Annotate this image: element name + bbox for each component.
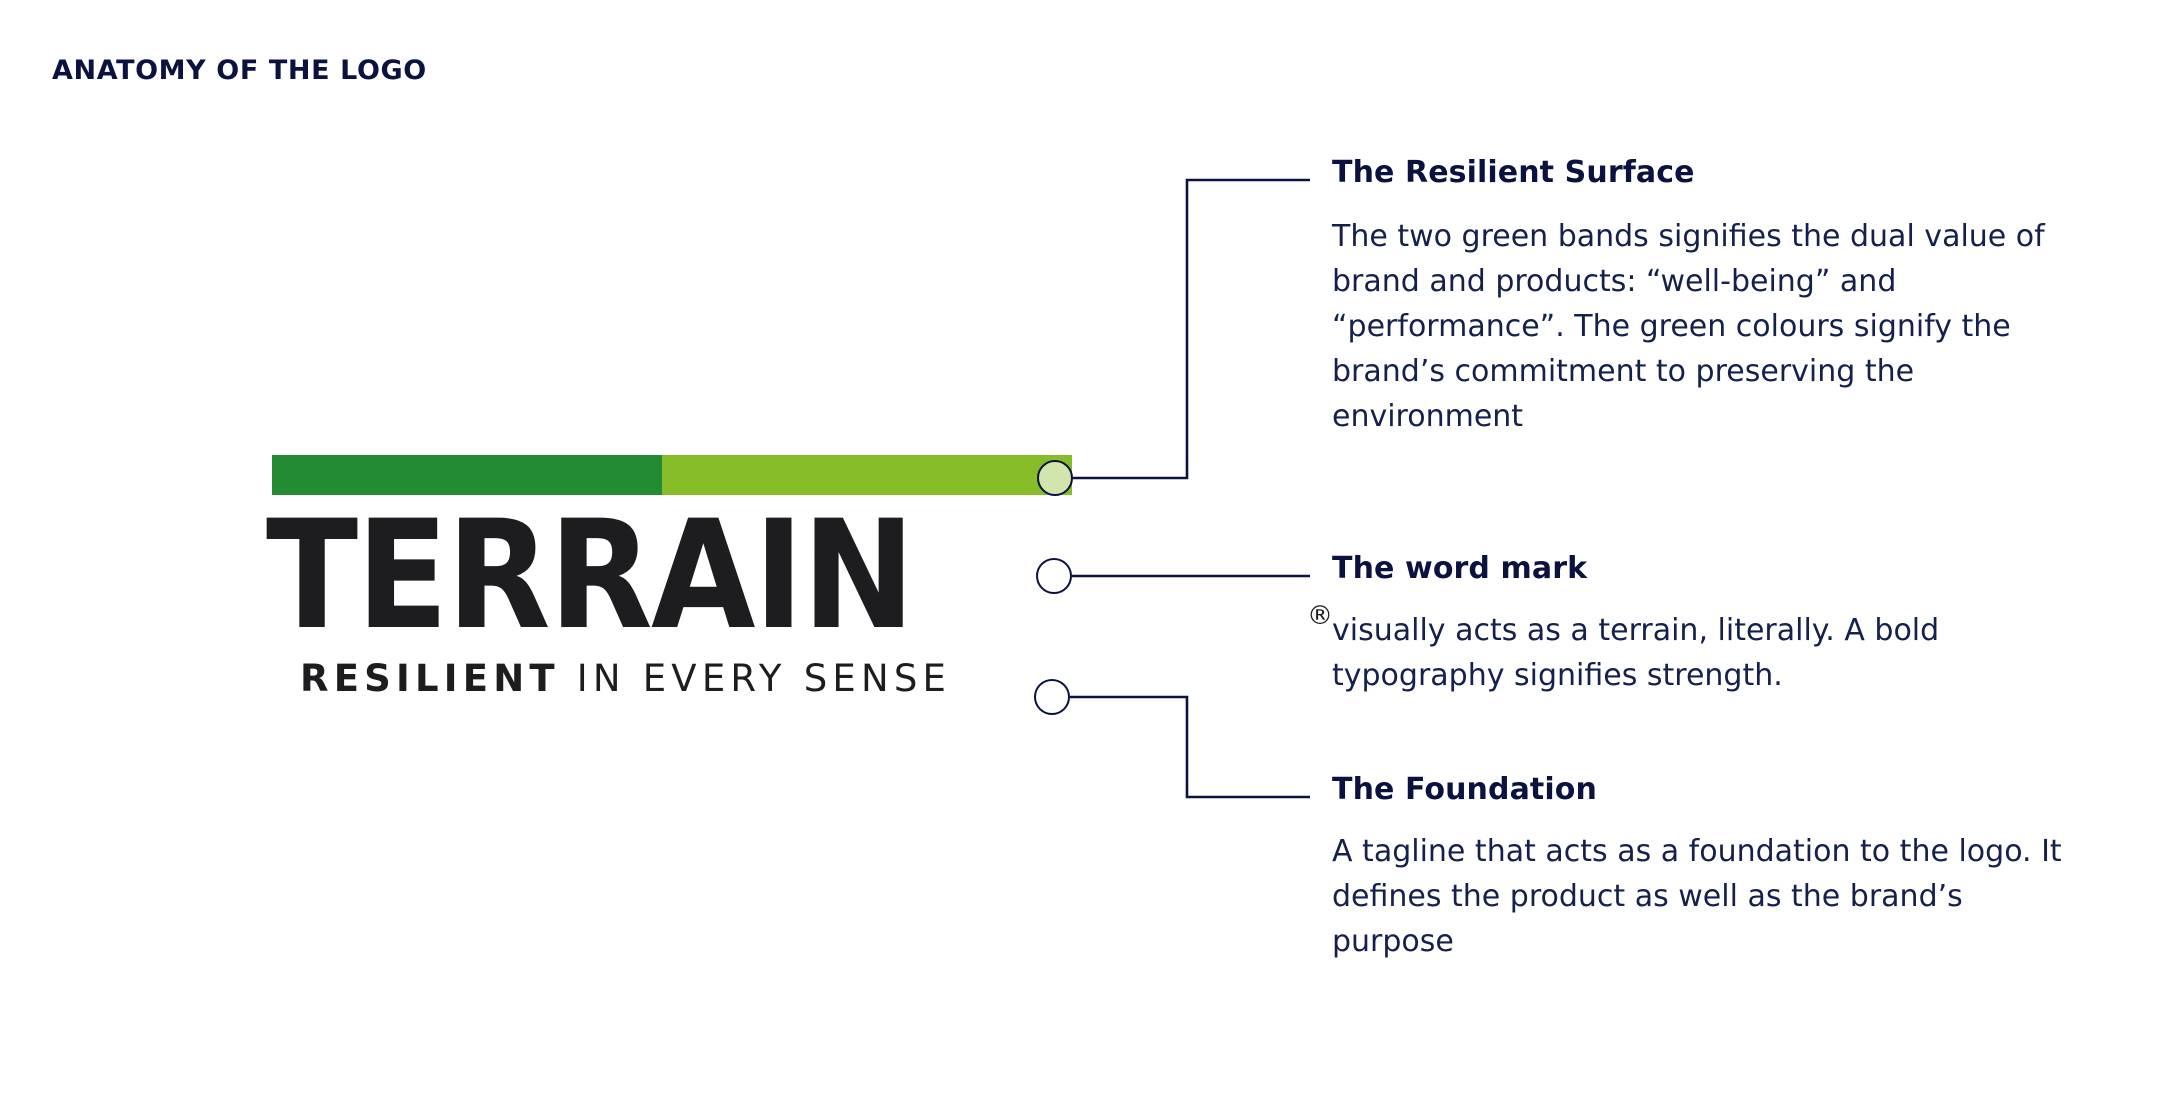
wordmark-text: TERRAIN (266, 501, 913, 651)
callout-dot-foundation[interactable] (1034, 679, 1070, 715)
logo-lockup: TERRAIN ® RESILIENT IN EVERY SENSE (272, 455, 1072, 699)
registered-trademark-icon: ® (1307, 603, 1333, 629)
logo-wordmark: TERRAIN ® (272, 517, 1072, 637)
tagline-regular-words: IN EVERY SENSE (560, 657, 951, 700)
callout-body: The two green bands signifies the dual v… (1332, 214, 2062, 439)
page-title: ANATOMY OF THE LOGO (52, 55, 427, 86)
callout-heading: The word mark (1332, 552, 2072, 586)
anatomy-of-the-logo-page: ANATOMY OF THE LOGO TERRAIN ® RESILIENT … (0, 0, 2176, 1110)
callout-body: visually acts as a terrain, literally. A… (1332, 608, 2062, 698)
leader-line-resilient-surface (1073, 180, 1310, 478)
callout-dot-word-mark[interactable] (1036, 558, 1072, 594)
callout-foundation: The Foundation A tagline that acts as a … (1332, 773, 2072, 964)
callout-resilient-surface: The Resilient Surface The two green band… (1332, 156, 2072, 439)
tagline-bold-word: RESILIENT (300, 657, 560, 700)
callout-heading: The Resilient Surface (1332, 156, 2072, 190)
logo-tagline: RESILIENT IN EVERY SENSE (300, 659, 1100, 699)
callout-word-mark: The word mark visually acts as a terrain… (1332, 552, 2072, 698)
callout-body: A tagline that acts as a foundation to t… (1332, 829, 2062, 964)
leader-line-foundation (1070, 697, 1310, 797)
callout-dot-resilient-surface[interactable] (1037, 460, 1073, 496)
callout-heading: The Foundation (1332, 773, 2072, 807)
